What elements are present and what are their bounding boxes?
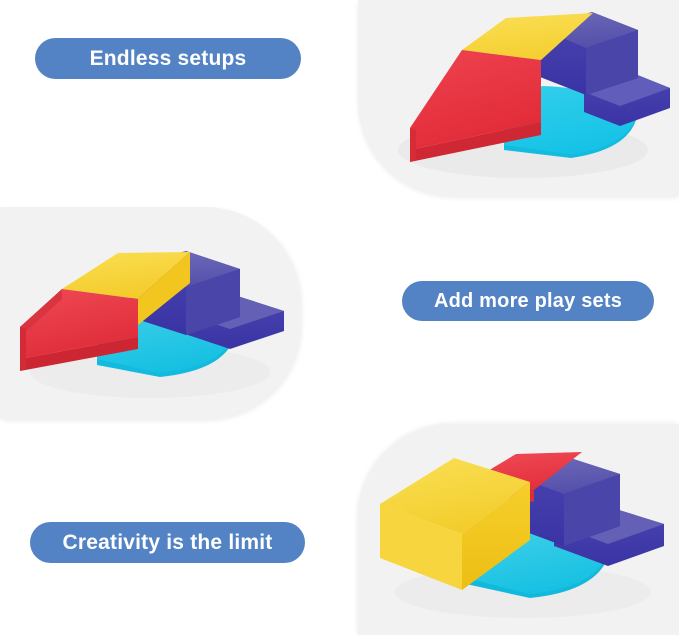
caption-label-endless-setups: Endless setups [90, 47, 247, 71]
caption-pill-creativity-is-the-limit[interactable]: Creativity is the limit [30, 522, 305, 563]
product-image-card-bottom-right [358, 424, 679, 635]
caption-label-creativity-is-the-limit: Creativity is the limit [63, 531, 273, 555]
caption-pill-add-more-play-sets[interactable]: Add more play sets [402, 281, 654, 321]
foam-play-set-illustration-bottom-right [358, 424, 679, 635]
caption-label-add-more-play-sets: Add more play sets [434, 290, 622, 313]
caption-pill-endless-setups[interactable]: Endless setups [35, 38, 301, 79]
product-feature-collage: { "page": { "title": "Soft foam climbing… [0, 0, 679, 635]
foam-play-set-illustration-mid-left [0, 207, 300, 419]
foam-play-set-illustration-top-right [358, 0, 679, 196]
product-image-card-top-right [358, 0, 679, 196]
product-image-card-mid-left [0, 207, 300, 419]
